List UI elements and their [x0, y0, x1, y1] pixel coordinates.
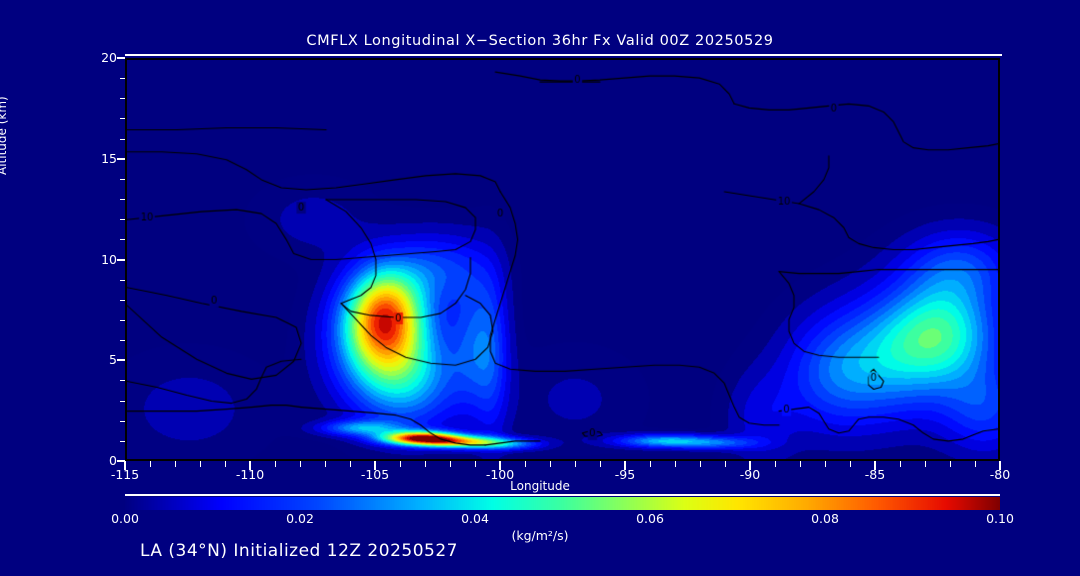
y-minor-tick — [120, 179, 125, 180]
colorbar-tick-label: 0.04 — [440, 511, 510, 526]
x-minor-tick — [575, 461, 576, 467]
colorbar — [125, 497, 1000, 510]
x-major-tick — [249, 461, 251, 470]
x-minor-tick — [300, 461, 301, 467]
y-axis-label: Altitude (km) — [0, 96, 9, 175]
x-minor-tick — [850, 461, 851, 467]
x-minor-tick — [175, 461, 176, 467]
top-frame-rule — [125, 54, 1002, 56]
x-minor-tick — [675, 461, 676, 467]
x-minor-tick — [975, 461, 976, 467]
y-major-tick — [117, 259, 125, 261]
x-minor-tick — [475, 461, 476, 467]
x-minor-tick — [600, 461, 601, 467]
x-major-tick — [749, 461, 751, 470]
x-minor-tick — [950, 461, 951, 467]
y-tick-label: 15 — [77, 151, 117, 166]
y-minor-tick — [120, 320, 125, 321]
y-tick-label: 5 — [77, 352, 117, 367]
x-minor-tick — [725, 461, 726, 467]
x-minor-tick — [775, 461, 776, 467]
x-minor-tick — [825, 461, 826, 467]
y-minor-tick — [120, 380, 125, 381]
x-major-tick — [999, 461, 1001, 470]
colorbar-tick-label: 0.02 — [265, 511, 335, 526]
y-tick-label: 10 — [77, 252, 117, 267]
x-major-tick — [874, 461, 876, 470]
chart-caption: LA (34°N) Initialized 12Z 20250527 — [140, 541, 458, 561]
y-tick-label: 20 — [77, 50, 117, 65]
colorbar-tick-label: 0.00 — [90, 511, 160, 526]
x-minor-tick — [550, 461, 551, 467]
y-minor-tick — [120, 139, 125, 140]
y-tick-label: 0 — [77, 453, 117, 468]
colorbar-tick-label: 0.08 — [790, 511, 860, 526]
x-minor-tick — [225, 461, 226, 467]
y-minor-tick — [120, 340, 125, 341]
x-minor-tick — [325, 461, 326, 467]
contour-fill-field — [127, 60, 998, 459]
y-minor-tick — [120, 199, 125, 200]
x-minor-tick — [275, 461, 276, 467]
plot-area — [125, 58, 1000, 461]
x-minor-tick — [900, 461, 901, 467]
x-minor-tick — [700, 461, 701, 467]
y-major-tick — [117, 57, 125, 59]
x-minor-tick — [800, 461, 801, 467]
x-minor-tick — [925, 461, 926, 467]
x-major-tick — [499, 461, 501, 470]
y-minor-tick — [120, 441, 125, 442]
x-major-tick — [624, 461, 626, 470]
x-axis-label: Longitude — [0, 479, 1080, 493]
y-major-tick — [117, 158, 125, 160]
x-minor-tick — [150, 461, 151, 467]
x-minor-tick — [525, 461, 526, 467]
chart-screenshot: CMFLX Longitudinal X−Section 36hr Fx Val… — [0, 0, 1080, 576]
x-major-tick — [374, 461, 376, 470]
colorbar-tick-label: 0.10 — [965, 511, 1035, 526]
x-minor-tick — [400, 461, 401, 467]
y-major-tick — [117, 359, 125, 361]
y-minor-tick — [120, 118, 125, 119]
y-minor-tick — [120, 239, 125, 240]
y-minor-tick — [120, 300, 125, 301]
x-minor-tick — [650, 461, 651, 467]
chart-title: CMFLX Longitudinal X−Section 36hr Fx Val… — [0, 33, 1080, 49]
x-minor-tick — [200, 461, 201, 467]
y-minor-tick — [120, 98, 125, 99]
y-minor-tick — [120, 401, 125, 402]
y-minor-tick — [120, 280, 125, 281]
x-minor-tick — [450, 461, 451, 467]
x-minor-tick — [350, 461, 351, 467]
y-minor-tick — [120, 78, 125, 79]
y-minor-tick — [120, 421, 125, 422]
colorbar-tick-label: 0.06 — [615, 511, 685, 526]
y-minor-tick — [120, 219, 125, 220]
colorbar-top-rule — [125, 494, 1000, 496]
x-minor-tick — [425, 461, 426, 467]
x-major-tick — [124, 461, 126, 470]
